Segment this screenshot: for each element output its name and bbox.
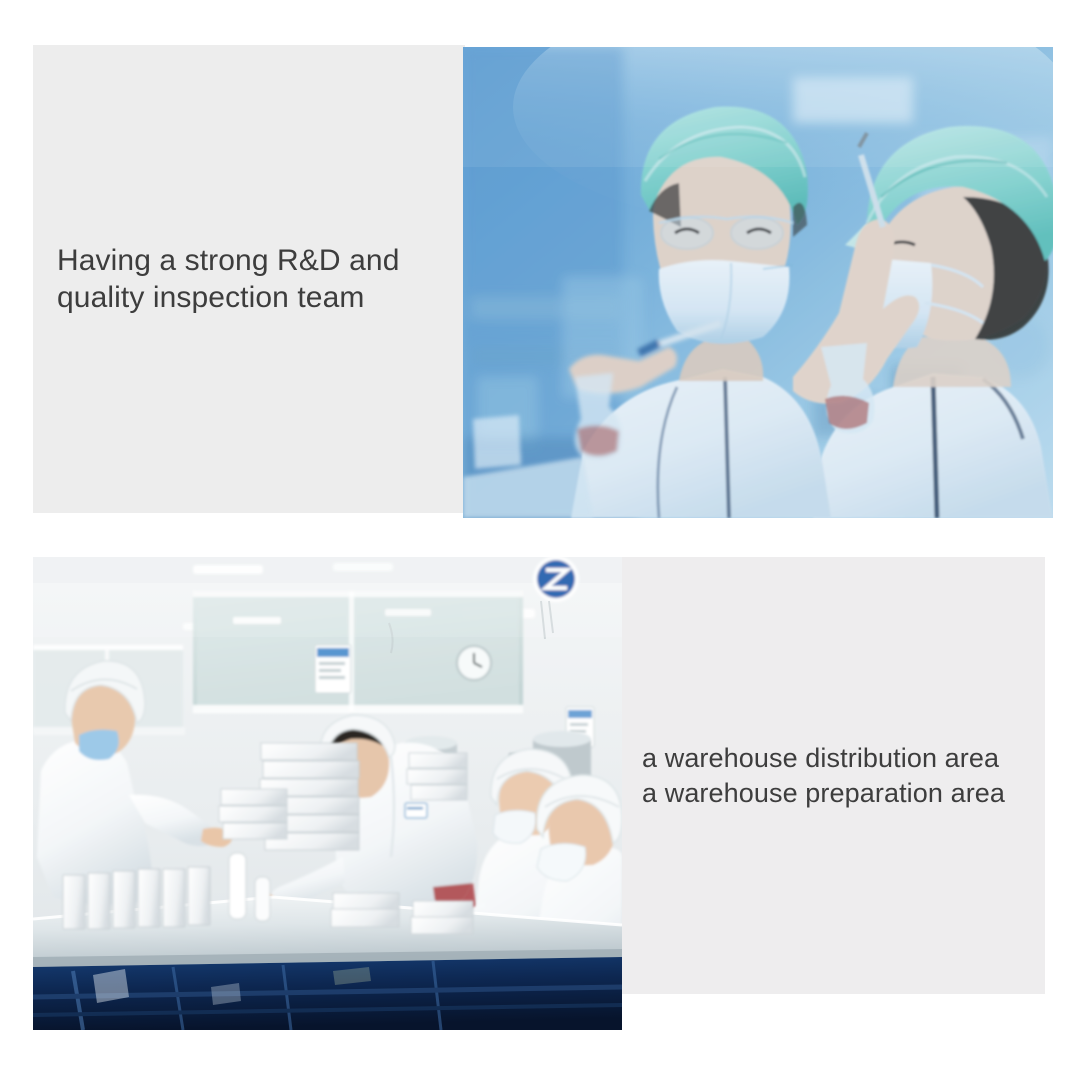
row-lab-inspection: Having a strong R&D and quality inspecti…	[0, 0, 1080, 530]
lab-caption-text: Having a strong R&D and quality inspecti…	[33, 242, 409, 316]
lab-caption-panel: Having a strong R&D and quality inspecti…	[33, 45, 465, 513]
row-warehouse-packing: a warehouse distribution area a warehous…	[0, 530, 1080, 1080]
lab-inspection-photo	[463, 47, 1053, 518]
warehouse-packing-photo	[33, 557, 622, 1030]
lab-inspection-illustration	[463, 47, 1053, 518]
warehouse-caption-text: a warehouse distribution area a warehous…	[622, 741, 1013, 810]
warehouse-packing-illustration	[33, 557, 622, 1030]
promo-layout: Having a strong R&D and quality inspecti…	[0, 0, 1080, 1080]
warehouse-caption-panel: a warehouse distribution area a warehous…	[622, 557, 1045, 994]
